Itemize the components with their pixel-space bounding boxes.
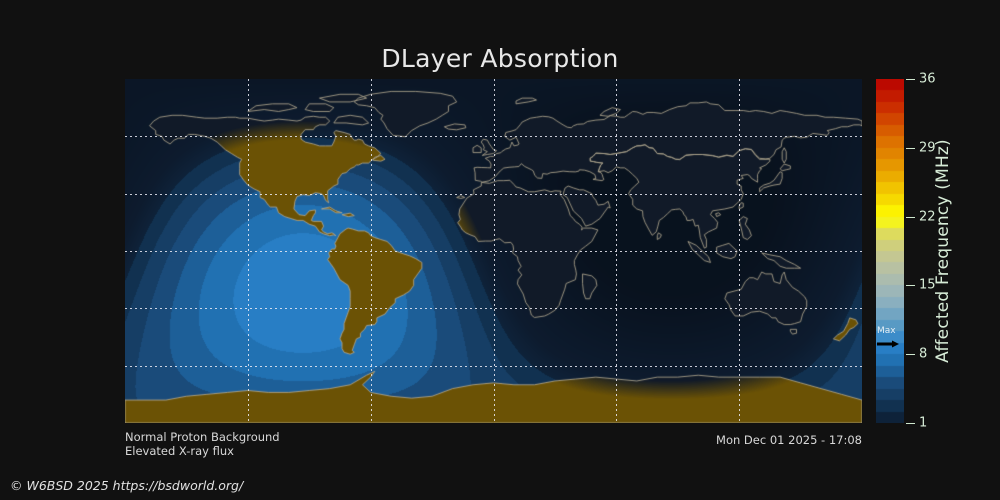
colorbar-tick-22 (906, 217, 915, 218)
colorbar-tick-label-1: 1 (919, 417, 927, 430)
colorbar-gradient (876, 79, 904, 423)
copyright-notice: © W6BSD 2025 https://bsdworld.org/ (10, 478, 243, 493)
colorbar-tick-8 (906, 354, 915, 355)
colorbar[interactable] (876, 79, 904, 423)
timestamp: Mon Dec 01 2025 - 17:08 (716, 433, 862, 447)
status-note-xray: Elevated X-ray flux (125, 444, 234, 458)
colorbar-tick-15 (906, 285, 915, 286)
colorbar-axis-label: Affected Frequency (MHz) (929, 79, 957, 423)
status-note-proton: Normal Proton Background (125, 430, 280, 444)
absorption-map-canvas[interactable] (125, 79, 862, 423)
colorbar-tick-1 (906, 423, 915, 424)
page-title: DLayer Absorption (0, 44, 1000, 73)
dlayer-absorption-app: DLayer Absorption 3629221581 Max Affecte… (0, 0, 1000, 500)
colorbar-tick-29 (906, 148, 915, 149)
colorbar-tick-label-8: 8 (919, 348, 927, 361)
colorbar-tick-36 (906, 79, 915, 80)
world-map[interactable] (125, 79, 862, 423)
